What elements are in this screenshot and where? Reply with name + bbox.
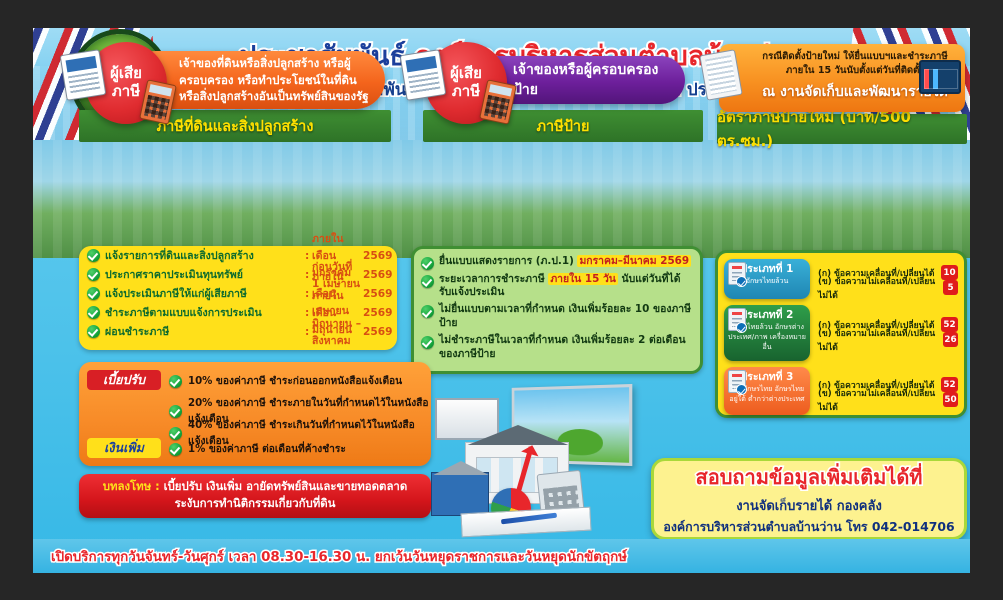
taxpayer-badge-line1: ผู้เสีย <box>450 65 482 83</box>
penalty-panel: เบี้ยปรับ เงินเพิ่ม 10% ของค่าภาษี ชำระก… <box>79 362 431 466</box>
sign-type-3-rows: (ก) ข้อความเคลื่อนที่/เปลี่ยนได้ 52 (ข) … <box>818 377 958 407</box>
check-icon <box>421 275 434 288</box>
new-sign-notice: กรณีติดตั้งป้ายใหม่ ให้ยื่นแบบฯและชำระภา… <box>719 44 965 112</box>
check-icon <box>87 287 100 300</box>
list-item: 1% ของค่าภาษี ต่อเดือนที่ค้างชำระ <box>169 441 346 457</box>
contact-heading: สอบถามข้อมูลเพิ่มเติมได้ที่ <box>695 461 922 493</box>
poster-canvas: ♘ ประชาสัมพันธ์ องค์การบริหารส่วนตำบลบ้า… <box>33 28 970 573</box>
table-row: ผ่อนชำระภาษี : มิถุนายน – สิงหาคม 2569 <box>79 322 397 341</box>
sign-tax-rules-panel: ยื่นแบบแสดงรายการ (ภ.ป.1) มกราคม–มีนาคม … <box>411 246 703 374</box>
check-icon <box>87 325 100 338</box>
schedule-year: 2569 <box>363 288 397 300</box>
rule-text: ไม่ยื่นแบบตามเวลาที่กำหนด เงินเพิ่มร้อยล… <box>439 303 692 331</box>
schedule-task: ชำระภาษีตามแบบแจ้งการประเมิน <box>105 304 305 321</box>
punishment-line2: ระงับการทำนิติกรรมเกี่ยวกับที่ดิน <box>175 495 336 513</box>
section-label-sign-rate: อัตราภาษีป้ายใหม่ (บาท/500 ตร.ซม.) <box>717 114 967 144</box>
schedule-when: มิถุนายน – สิงหาคม <box>312 315 363 349</box>
colon-separator: : <box>305 288 312 300</box>
sign-type-1-badge: ประเภทที่ 1 อักษรไทยล้วน <box>724 259 810 299</box>
contact-office: งานจัดเก็บรายได้ กองคลัง <box>736 495 882 516</box>
schedule-year: 2569 <box>363 250 397 262</box>
service-hours-text: เปิดบริการทุกวันจันทร์-วันศุกร์ เวลา 08.… <box>51 546 627 567</box>
schedule-year: 2569 <box>363 269 397 281</box>
penalty-fine-tag: เบี้ยปรับ <box>87 370 161 390</box>
sign-type-2-rows: (ก) ข้อความเคลื่อนที่/เปลี่ยนได้ 52 (ข) … <box>818 317 958 347</box>
check-badge-icon <box>736 384 747 395</box>
schedule-task: แจ้งรายการที่ดินและสิ่งปลูกสร้าง <box>105 247 305 264</box>
punishment-label: บทลงโทษ : <box>103 479 160 493</box>
colon-separator: : <box>305 326 312 338</box>
penalty-text: 1% ของค่าภาษี ต่อเดือนที่ค้างชำระ <box>188 441 346 457</box>
small-house-icon <box>431 472 489 516</box>
list-item: 10% ของค่าภาษี ชำระก่อนออกหนังสือแจ้งเตื… <box>169 373 402 389</box>
penalty-text: 10% ของค่าภาษี ชำระก่อนออกหนังสือแจ้งเตื… <box>188 373 402 389</box>
rate-value: 52 <box>941 377 958 392</box>
colon-separator: : <box>305 250 312 262</box>
rate-value: 5 <box>943 280 958 295</box>
rule-text: ไม่ชำระภาษีในเวลาที่กำหนด เงินเพิ่มร้อยล… <box>439 334 692 362</box>
schedule-year: 2569 <box>363 307 397 319</box>
check-badge-icon <box>736 276 747 287</box>
list-item: ไม่ยื่นแบบตามเวลาที่กำหนด เงินเพิ่มร้อยล… <box>414 302 700 333</box>
rule-text: ระยะเวลาการชำระภาษี ภายใน 15 วัน นับแต่ว… <box>439 273 692 301</box>
monitor-chart-icon <box>919 60 961 94</box>
table-row: (ข) ข้อความไม่เคลื่อนที่/เปลี่ยนไม่ได้ 5 <box>818 280 958 295</box>
city-photo-band <box>33 140 970 258</box>
list-item: ไม่ชำระภาษีในเวลาที่กำหนด เงินเพิ่มร้อยล… <box>414 333 700 364</box>
rate-value: 26 <box>943 332 958 347</box>
rate-label: (ข) ข้อความไม่เคลื่อนที่/เปลี่ยนไม่ได้ <box>818 274 939 302</box>
sign-type-1-rows: (ก) ข้อความเคลื่อนที่/เปลี่ยนได้ 10 (ข) … <box>818 265 958 295</box>
check-icon <box>169 427 182 440</box>
check-icon <box>421 257 434 270</box>
taxpayer-badge-line2: ภาษี <box>112 83 140 101</box>
rate-value: 50 <box>943 392 958 407</box>
check-icon <box>169 443 182 456</box>
penalty-surcharge-tag: เงินเพิ่ม <box>87 438 161 458</box>
contact-box: สอบถามข้อมูลเพิ่มเติมได้ที่ งานจัดเก็บรา… <box>651 458 967 540</box>
property-illustration <box>429 380 659 540</box>
check-icon <box>87 268 100 281</box>
rate-label: (ข) ข้อความไม่เคลื่อนที่/เปลี่ยนไม่ได้ <box>818 326 939 354</box>
check-icon <box>87 249 100 262</box>
taxpayer-badge-line1: ผู้เสีย <box>110 65 142 83</box>
sign-type-2-badge: ประเภทที่ 2 อักษรไทยล้วน อักษรต่างประเทศ… <box>724 305 810 361</box>
tablet-icon <box>699 49 742 101</box>
punishment-detail: เบี้ยปรับ เงินเพิ่ม อายัดทรัพย์สินและขาย… <box>160 479 408 493</box>
rate-value: 10 <box>941 265 958 280</box>
schedule-task: แจ้งประเมินภาษีให้แก่ผู้เสียภาษี <box>105 285 305 302</box>
land-tax-schedule-panel: แจ้งรายการที่ดินและสิ่งปลูกสร้าง : ภายใน… <box>79 246 397 350</box>
check-icon <box>421 336 434 349</box>
table-row: (ข) ข้อความไม่เคลื่อนที่/เปลี่ยนไม่ได้ 2… <box>818 332 958 347</box>
document-icon <box>400 49 447 101</box>
list-item: ยื่นแบบแสดงรายการ (ภ.ป.1) มกราคม–มีนาคม … <box>414 253 700 271</box>
colon-separator: : <box>305 269 312 281</box>
check-icon <box>169 375 182 388</box>
service-hours-bar: เปิดบริการทุกวันจันทร์-วันศุกร์ เวลา 08.… <box>33 539 970 573</box>
colon-separator: : <box>305 307 312 319</box>
list-item: ระยะเวลาการชำระภาษี ภายใน 15 วัน นับแต่ว… <box>414 271 700 302</box>
schedule-task: ประกาศราคาประเมินทุนทรัพย์ <box>105 266 305 283</box>
contact-phone: องค์การบริหารส่วนตำบลบ้านว่าน โทร 042-01… <box>663 518 954 537</box>
table-row: (ข) ข้อความไม่เคลื่อนที่/เปลี่ยนไม่ได้ 5… <box>818 392 958 407</box>
schedule-task: ผ่อนชำระภาษี <box>105 323 305 340</box>
check-badge-icon <box>736 322 747 333</box>
check-icon <box>421 305 434 318</box>
rate-value: 52 <box>941 317 958 332</box>
schedule-year: 2569 <box>363 326 397 338</box>
punishment-line1: บทลงโทษ : เบี้ยปรับ เงินเพิ่ม อายัดทรัพย… <box>103 479 407 494</box>
sign-type-3-badge: ประเภทที่ 3 ไม่มีอักษรไทย อักษรไทยอยู่ใต… <box>724 367 810 415</box>
rate-label: (ข) ข้อความไม่เคลื่อนที่/เปลี่ยนไม่ได้ <box>818 386 939 414</box>
sign-rate-table-panel: ประเภทที่ 1 อักษรไทยล้วน (ก) ข้อความเคลื… <box>715 250 967 418</box>
rule-text: ยื่นแบบแสดงรายการ (ภ.ป.1) มกราคม–มีนาคม … <box>439 255 691 269</box>
document-icon <box>60 49 107 101</box>
check-icon <box>87 306 100 319</box>
blank-billboard-icon <box>435 398 499 440</box>
punishment-banner: บทลงโทษ : เบี้ยปรับ เงินเพิ่ม อายัดทรัพย… <box>79 474 431 518</box>
taxpayer-badge-line2: ภาษี <box>452 83 480 101</box>
check-icon <box>169 405 182 418</box>
